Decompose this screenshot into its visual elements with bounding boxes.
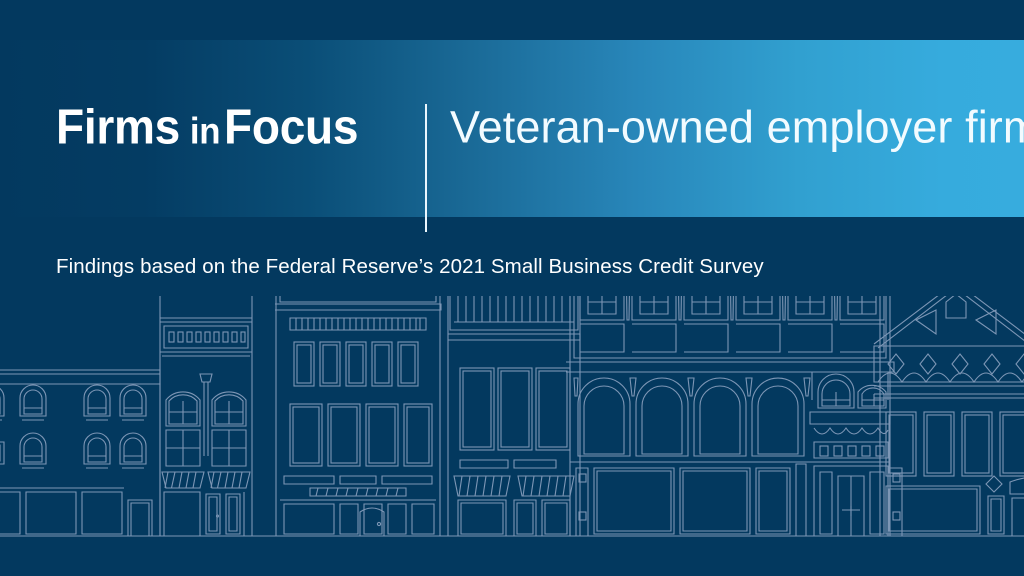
street-lamp: [200, 374, 212, 456]
building-6-diamond-frieze: [878, 354, 1024, 382]
building-5-sub-shop: [810, 372, 890, 458]
building-3-windows-top: [294, 342, 418, 386]
building-6-storefront: [886, 476, 1024, 536]
building-4-pilaster-shop: [448, 296, 580, 536]
building-3-dentil-strip: [296, 318, 420, 330]
building-3-windows-mid: [290, 404, 432, 466]
building-5-shop-dentils: [820, 446, 884, 456]
building-1-windows-upper: [0, 385, 146, 420]
building-5-lower-arcade: [574, 378, 810, 456]
building-5-upper-arcade: [574, 296, 886, 358]
slide-root: FirmsinFocus Veteran-owned employer firm…: [0, 0, 1024, 576]
building-2-awning-shop: [160, 296, 252, 536]
source-caption: Findings based on the Federal Reserve’s …: [56, 255, 764, 279]
buildings-group: [0, 296, 1024, 536]
page-title-word-focus: Focus: [224, 103, 358, 152]
building-2-dentils: [169, 332, 245, 342]
building-3-ornate-cornice: [275, 296, 441, 536]
page-title-word-in: in: [188, 112, 222, 149]
building-2-awnings: [162, 472, 250, 488]
building-6-pediment: [874, 296, 1024, 536]
building-1-walkup: [0, 296, 160, 536]
building-5-grand-arcade: [566, 296, 902, 536]
building-4-pilasters: [454, 296, 574, 322]
streetscape-illustration: [0, 296, 1024, 576]
streetscape-svg: [0, 296, 1024, 576]
building-5-storefront: [576, 464, 902, 536]
building-1-windows-mid: [0, 433, 146, 468]
building-6-gable: [874, 296, 1024, 348]
title-banner: FirmsinFocus Veteran-owned employer firm…: [0, 40, 1024, 217]
title-banner-content: FirmsinFocus Veteran-owned employer firm…: [0, 40, 1024, 217]
page-title-word-firms: Firms: [56, 103, 180, 152]
building-1-storefront: [0, 488, 152, 536]
building-6-windows-upper: [886, 412, 1024, 476]
building-4-windows: [460, 368, 570, 450]
title-divider-rule: [425, 104, 427, 232]
page-title: FirmsinFocus: [56, 103, 367, 152]
building-4-awnings: [454, 476, 574, 496]
page-subtitle-headline: Veteran-owned employer firms: [450, 104, 1024, 149]
